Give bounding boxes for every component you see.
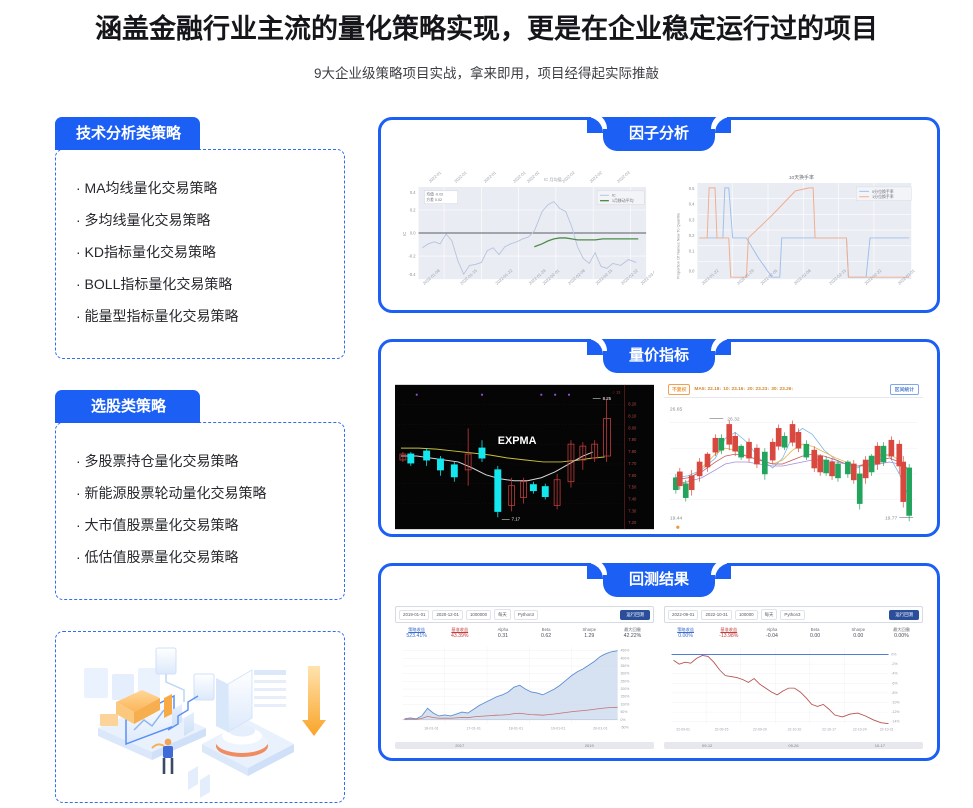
svg-text:0%: 0% (891, 652, 896, 656)
strategy-card-stock-selection-body: · 多股票持仓量化交易策略 · 新能源股票轮动量化交易策略 · 大市值股票量化交… (55, 422, 345, 600)
svg-text:0.0: 0.0 (689, 268, 695, 273)
ma-values-label: MA5: 22.18↓ 10: 23.16↓ 20: 23.23↓ 30: 23… (694, 387, 793, 392)
timeline-label: 09-12 (702, 743, 712, 748)
svg-text:300%: 300% (621, 672, 630, 676)
panel-backtest-results-tab[interactable]: 回测结果 (603, 563, 715, 597)
svg-text:IC 月均值: IC 月均值 (544, 176, 562, 182)
svg-text:2022-03: 2022-03 (616, 169, 631, 183)
list-item[interactable]: · 能量型指标量化交易策略 (70, 300, 334, 332)
backtest-toolbar-1: 2019-01-01 2020-12-01 1000000 每天 Python3… (395, 606, 654, 623)
metric-strategy-return: 策略收益 0.00% (664, 626, 707, 640)
svg-text:150%: 150% (621, 695, 630, 699)
adjust-dropdown[interactable]: 不复权 (668, 384, 690, 395)
svg-text:Proportion Of Names New To Qua: Proportion Of Names New To Quantile (676, 213, 681, 279)
chart-turnover-quantile: 10天换手率 (664, 160, 923, 296)
chart-expma-candlestick: ○ 13 (395, 382, 654, 520)
svg-text:2022-02: 2022-02 (561, 169, 576, 183)
metric-beta: Beta 0.62 (525, 626, 568, 640)
list-item[interactable]: · 低估值股票量化交易策略 (70, 541, 334, 573)
metric-alpha: Alpha 0.31 (481, 626, 524, 640)
list-item[interactable]: · 大市值股票量化交易策略 (70, 509, 334, 541)
list-item[interactable]: · BOLL指标量化交易策略 (70, 268, 334, 300)
svg-text:400%: 400% (621, 656, 630, 660)
svg-text:7.90: 7.90 (628, 437, 637, 442)
timeline-label: 2019 (585, 743, 594, 748)
svg-text:250%: 250% (621, 679, 630, 683)
svg-text:-8%: -8% (891, 691, 897, 695)
start-date-input[interactable]: 2019-01-01 (399, 610, 429, 620)
svg-text:8.25: 8.25 (603, 396, 612, 401)
svg-text:○ 13: ○ 13 (613, 390, 622, 395)
page-header: 涵盖金融行业主流的量化策略实现，更是在企业稳定运行过的项目 9大企业级策略项目实… (0, 0, 973, 84)
run-backtest-button[interactable]: 运行回测 (889, 610, 919, 620)
end-date-input[interactable]: 2022-10-31 (701, 610, 731, 620)
svg-text:0分位换手率: 0分位换手率 (872, 189, 894, 194)
svg-text:17-01-01: 17-01-01 (466, 726, 481, 730)
panel-backtest-results: 回测结果 2019-01-01 2020-12-01 1000000 每天 Py… (378, 563, 940, 761)
status-dot (676, 526, 679, 529)
svg-text:2022-01: 2022-01 (428, 169, 443, 183)
chart-ic-timeseries: 2022-01 2022-01 2022-01 2022-01 2022-02 … (395, 160, 654, 296)
svg-text:19.77: 19.77 (885, 515, 898, 521)
end-date-input[interactable]: 2020-12-01 (432, 610, 462, 620)
svg-text:-2%: -2% (891, 662, 897, 666)
svg-text:50%: 50% (621, 710, 628, 714)
chart-ma-candlestick: 不复权 MA5: 22.18↓ 10: 23.16↓ 20: 23.23↓ 30… (664, 382, 923, 520)
panel-price-volume: 量价指标 (378, 339, 940, 537)
svg-text:-6%: -6% (891, 681, 897, 685)
svg-text:1月移动平均: 1月移动平均 (612, 198, 634, 203)
metric-max-drawdown: 最大回撤 42.22% (611, 626, 654, 640)
svg-text:2022-01: 2022-01 (453, 169, 468, 183)
svg-text:19-01-01: 19-01-01 (551, 726, 566, 730)
metric-beta: Beta 0.00 (794, 626, 837, 640)
runtime-select[interactable]: Python3 (514, 610, 538, 620)
svg-text:0.0: 0.0 (410, 231, 416, 236)
svg-text:0.3: 0.3 (689, 217, 695, 222)
list-item[interactable]: · MA均线量化交易策略 (70, 172, 334, 204)
panel-price-volume-tab[interactable]: 量价指标 (603, 339, 715, 373)
svg-text:100%: 100% (621, 702, 630, 706)
svg-text:0.5: 0.5 (689, 186, 695, 191)
svg-text:22-10-24: 22-10-24 (853, 727, 867, 731)
svg-text:-4%: -4% (891, 672, 897, 676)
svg-text:350%: 350% (621, 664, 630, 668)
isometric-data-analytics-icon (56, 632, 344, 803)
svg-text:16-01-01: 16-01-01 (424, 726, 439, 730)
metric-max-drawdown: 最大回撤 0.00% (880, 626, 923, 640)
strategy-card-technical-body: · MA均线量化交易策略 · 多均线量化交易策略 · KD指标量化交易策略 · … (55, 149, 345, 359)
svg-text:-12%: -12% (891, 710, 899, 714)
backtest-metrics-2: 策略收益 0.00% 基准收益 -13.98% Alpha -0.04 Be (664, 626, 923, 640)
svg-text:22-10-10: 22-10-10 (788, 727, 802, 731)
svg-text:0.2: 0.2 (689, 233, 695, 238)
svg-text:均值 -0.02: 均值 -0.02 (426, 192, 443, 197)
svg-text:7.60: 7.60 (628, 473, 637, 478)
list-item[interactable]: · 新能源股票轮动量化交易策略 (70, 477, 334, 509)
svg-text:0.1: 0.1 (689, 249, 695, 254)
svg-text:1分位换手率: 1分位换手率 (872, 194, 894, 199)
strategy-card-technical: 技术分析类策略 · MA均线量化交易策略 · 多均线量化交易策略 · KD指标量… (55, 117, 345, 360)
svg-text:0.4: 0.4 (410, 190, 416, 195)
page-title: 涵盖金融行业主流的量化策略实现，更是在企业稳定运行过的项目 (0, 8, 973, 50)
svg-text:-0.2: -0.2 (409, 254, 417, 259)
backtest-metrics-1: 策略收益 523.41% 基准收益 43.39% Alpha 0.31 Be (395, 626, 654, 640)
metric-sharpe: Sharpe 1.29 (568, 626, 611, 640)
range-statistics-button[interactable]: 区间统计 (890, 384, 919, 395)
svg-text:450%: 450% (621, 649, 630, 653)
timeline-label: 2017 (455, 743, 464, 748)
backtest-chart-1: 450%400% 350%300% 250%200% 150%100% 50%0… (395, 643, 654, 739)
svg-text:IC: IC (612, 193, 616, 198)
strategy-card-technical-tab[interactable]: 技术分析类策略 (55, 117, 200, 150)
svg-text:2022-02: 2022-02 (526, 169, 541, 183)
svg-text:0%: 0% (621, 718, 626, 722)
candlestick-toolbar: 不复权 MA5: 22.18↓ 10: 23.16↓ 20: 23.23↓ 30… (664, 382, 923, 398)
backtest-timeline-scrollbar-1[interactable]: 2017 2019 (395, 742, 654, 749)
svg-text:200%: 200% (621, 687, 630, 691)
page-subtitle: 9大企业级策略项目实战，拿来即用，项目经得起实际推敲 (0, 64, 973, 84)
list-item[interactable]: · 多股票持仓量化交易策略 (70, 445, 334, 477)
metric-strategy-return: 策略收益 523.41% (395, 626, 438, 640)
list-item[interactable]: · 多均线量化交易策略 (70, 204, 334, 236)
metric-sharpe: Sharpe 0.00 (837, 626, 880, 640)
runtime-select[interactable]: Python3 (780, 610, 804, 620)
svg-text:7.30: 7.30 (628, 508, 637, 513)
svg-text:7.20: 7.20 (628, 520, 637, 525)
frequency-select[interactable]: 每天 (494, 609, 511, 620)
backtest-toolbar-2: 2022-09-01 2022-10-31 100000 每天 Python3 … (664, 606, 923, 623)
svg-text:20-01-01: 20-01-01 (593, 726, 608, 730)
start-date-input[interactable]: 2022-09-01 (668, 610, 698, 620)
frequency-select[interactable]: 每天 (761, 609, 778, 620)
backtest-timeline-scrollbar-2[interactable]: 09-12 09-26 10-17 (664, 742, 923, 749)
svg-text:7.17: 7.17 (512, 517, 521, 522)
svg-text:7.50: 7.50 (628, 485, 637, 490)
svg-text:2022-01: 2022-01 (512, 169, 527, 183)
metric-alpha: Alpha -0.04 (750, 626, 793, 640)
svg-text:22-09-15: 22-09-15 (715, 727, 729, 731)
svg-text:2022-01: 2022-01 (483, 169, 498, 183)
svg-text:2022-02: 2022-02 (589, 169, 604, 183)
page-root: 涵盖金融行业主流的量化策略实现，更是在企业稳定运行过的项目 9大企业级策略项目实… (0, 0, 973, 808)
svg-text:22-10-17: 22-10-17 (822, 727, 836, 731)
svg-text:18-01-01: 18-01-01 (509, 726, 524, 730)
svg-text:-14%: -14% (891, 720, 899, 724)
svg-text:7.70: 7.70 (628, 461, 637, 466)
svg-text:8.10: 8.10 (628, 413, 637, 418)
strategy-card-stock-selection: 选股类策略 · 多股票持仓量化交易策略 · 新能源股票轮动量化交易策略 · 大市… (55, 390, 345, 601)
showcase-panel-column: 因子分析 2022-01 2022-01 2022-01 2022-01 202… (378, 117, 940, 787)
capital-input[interactable]: 1000000 (466, 610, 491, 620)
panel-factor-analysis-tab[interactable]: 因子分析 (603, 117, 715, 151)
capital-input[interactable]: 100000 (735, 610, 758, 620)
svg-text:-10%: -10% (891, 700, 899, 704)
svg-text:22-09-01: 22-09-01 (676, 727, 690, 731)
svg-text:0.2: 0.2 (410, 207, 416, 212)
svg-text:7.80: 7.80 (628, 449, 637, 454)
strategy-category-column: 技术分析类策略 · MA均线量化交易策略 · 多均线量化交易策略 · KD指标量… (55, 117, 345, 803)
list-item[interactable]: · KD指标量化交易策略 (70, 236, 334, 268)
svg-text:EXPMA: EXPMA (498, 435, 537, 447)
svg-text:-50%: -50% (621, 725, 629, 729)
metric-benchmark-return: 基准收益 -13.98% (707, 626, 750, 640)
metric-benchmark-return: 基准收益 43.39% (438, 626, 481, 640)
svg-text:8.20: 8.20 (628, 402, 637, 407)
svg-text:0.4: 0.4 (689, 202, 695, 207)
backtest-chart-2: 0%-2% -4%-6% -8%-10% -12%-14% 22-09-0122… (664, 643, 923, 739)
backtest-widget-2: 2022-09-01 2022-10-31 100000 每天 Python3 … (664, 606, 923, 744)
svg-text:10天换手率: 10天换手率 (789, 174, 814, 181)
panel-factor-analysis: 因子分析 2022-01 2022-01 2022-01 2022-01 202… (378, 117, 940, 313)
strategy-card-stock-selection-tab[interactable]: 选股类策略 (55, 390, 200, 423)
run-backtest-button[interactable]: 运行回测 (620, 610, 650, 620)
backtest-widget-1: 2019-01-01 2020-12-01 1000000 每天 Python3… (395, 606, 654, 744)
svg-text:-0.4: -0.4 (409, 272, 417, 277)
svg-text:22-09-20: 22-09-20 (753, 727, 767, 731)
svg-text:7.40: 7.40 (628, 496, 637, 501)
svg-text:IC: IC (402, 232, 407, 236)
svg-text:26.65: 26.65 (670, 407, 683, 413)
svg-text:8.00: 8.00 (628, 425, 637, 430)
illustration-panel (55, 631, 345, 803)
svg-text:19.44: 19.44 (670, 515, 683, 521)
svg-text:22-10-31: 22-10-31 (880, 727, 894, 731)
timeline-label: 09-26 (788, 743, 798, 748)
timeline-label: 10-17 (875, 743, 885, 748)
svg-text:方差 0.02: 方差 0.02 (426, 197, 442, 202)
